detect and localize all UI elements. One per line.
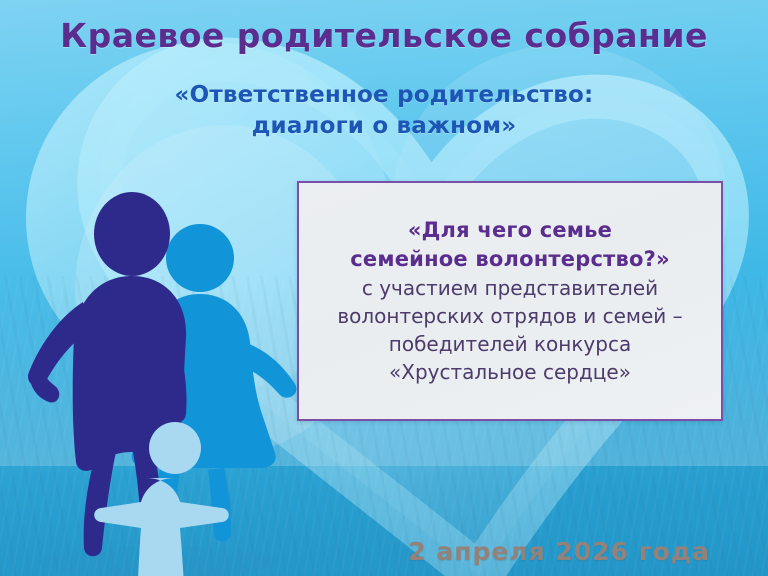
topic-callout-panel: «Для чего семье семейное волонтерство?» … — [297, 181, 723, 421]
subtitle-line-1: «Ответственное родительство: — [175, 82, 594, 108]
event-date: 2 апреля 2026 года — [408, 537, 710, 566]
page-subtitle: «Ответственное родительство: диалоги о в… — [0, 80, 768, 142]
child-figure — [94, 422, 229, 576]
panel-body-line-2: волонтерских отрядов и семей – — [337, 302, 682, 330]
page-title: Краевое родительское собрание — [0, 16, 768, 55]
panel-body-line-3: победителей конкурса — [337, 330, 682, 358]
poster-slide: Краевое родительское собрание «Ответстве… — [0, 0, 768, 576]
family-illustration — [28, 190, 308, 576]
panel-heading-line-1: «Для чего семье — [350, 216, 669, 245]
subtitle-line-2: диалоги о важном» — [0, 111, 768, 142]
panel-body-line-4: «Хрустальное сердце» — [337, 358, 682, 386]
panel-body-line-1: с участием представителей — [337, 274, 682, 302]
mother-figure — [132, 224, 297, 542]
panel-body: с участием представителей волонтерских о… — [337, 274, 682, 386]
family-silhouette-svg — [28, 190, 308, 576]
father-figure — [28, 192, 186, 556]
family-shadow — [38, 546, 278, 576]
panel-heading-line-2: семейное волонтерство?» — [350, 245, 669, 274]
panel-heading: «Для чего семье семейное волонтерство?» — [350, 216, 669, 274]
